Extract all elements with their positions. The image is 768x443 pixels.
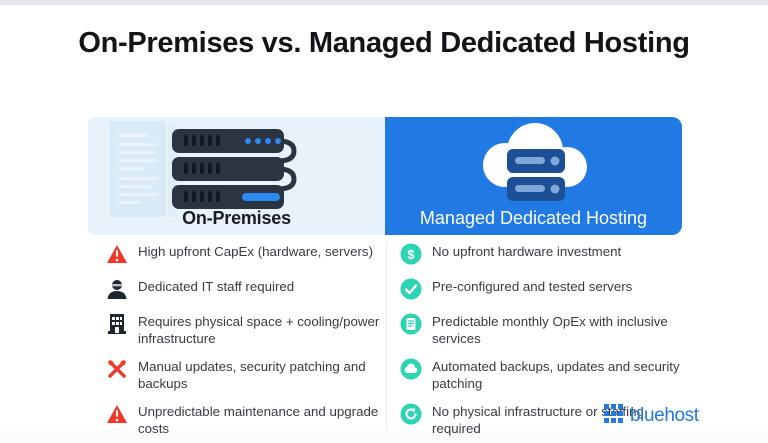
page-title: On-Premises vs. Managed Dedicated Hostin… [64, 25, 704, 62]
person-icon [104, 276, 130, 302]
list-item-text: Manual updates, security patching and ba… [138, 356, 394, 392]
dollar-circle-icon: $ [398, 241, 424, 267]
panel-on-premises: On-Premises [88, 117, 385, 235]
panel-right-label: Managed Dedicated Hosting [385, 208, 682, 229]
bluehost-logo-text: bluehost [630, 405, 699, 427]
comparison-header: On-Premises [88, 117, 682, 235]
list-item: Manual updates, security patching and ba… [104, 356, 394, 392]
tools-icon [104, 356, 130, 382]
cloud-circle-icon [398, 356, 424, 382]
list-item: Requires physical space + cooling/power … [104, 311, 394, 347]
on-premises-list: High upfront CapEx (hardware, servers) D… [104, 241, 394, 443]
list-item-text: Pre-configured and tested servers [432, 276, 632, 295]
list-item: Predictable monthly OpEx with inclusive … [398, 311, 688, 347]
document-circle-icon [398, 311, 424, 337]
list-item-text: Requires physical space + cooling/power … [138, 311, 394, 347]
list-item: Unpredictable maintenance and upgrade co… [104, 401, 394, 437]
list-item-text: No upfront hardware investment [432, 241, 621, 260]
list-item: $ No upfront hardware investment [398, 241, 688, 267]
list-item-text: Predictable monthly OpEx with inclusive … [432, 311, 688, 347]
svg-text:$: $ [407, 247, 415, 262]
building-icon [104, 311, 130, 337]
warning-triangle-icon [104, 241, 130, 267]
bluehost-grid-icon [604, 404, 623, 428]
list-item: Dedicated IT staff required [104, 276, 394, 302]
warning-triangle-icon [104, 401, 130, 427]
bluehost-logo[interactable]: bluehost [604, 404, 699, 428]
list-item: Pre-configured and tested servers [398, 276, 688, 302]
list-item-text: High upfront CapEx (hardware, servers) [138, 241, 373, 260]
list-item-text: Dedicated IT staff required [138, 276, 294, 295]
list-item: High upfront CapEx (hardware, servers) [104, 241, 394, 267]
list-item-text: Unpredictable maintenance and upgrade co… [138, 401, 394, 437]
cloud-server-icon [477, 121, 593, 216]
check-circle-icon [398, 276, 424, 302]
panel-left-label: On-Premises [88, 208, 385, 229]
list-item: Automated backups, updates and security … [398, 356, 688, 392]
refresh-circle-icon [398, 401, 424, 427]
server-stack-icon [166, 123, 302, 220]
list-item-text: Automated backups, updates and security … [432, 356, 688, 392]
panel-managed-hosting: Managed Dedicated Hosting [385, 117, 682, 235]
content-card: On-Premises vs. Managed Dedicated Hostin… [0, 5, 768, 430]
infographic-page: On-Premises vs. Managed Dedicated Hostin… [0, 0, 768, 443]
